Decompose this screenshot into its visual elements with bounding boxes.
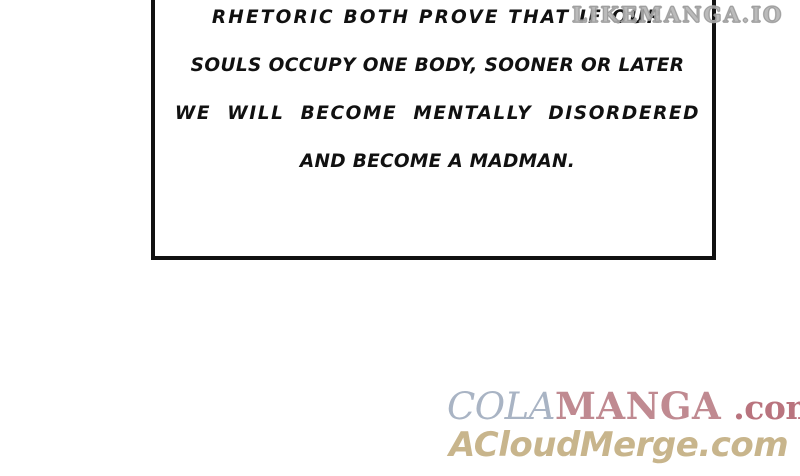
dialogue-line-1: RHETORIC BOTH PROVE THAT IF OUR	[155, 9, 720, 28]
brand-logo-dotcom: .com	[733, 388, 800, 427]
brand-logo-primary: COLAMANGA.com	[447, 388, 797, 425]
brand-logo: COLAMANGA.com ACloudMerge.com	[447, 388, 797, 476]
dialogue-text-block: RHETORIC BOTH PROVE THAT IF OUR SOULS OC…	[155, 0, 720, 200]
dialogue-line-4: AND BECOME A MADMAN.	[155, 153, 720, 172]
brand-logo-cola: COLA	[447, 385, 555, 428]
comic-panel: RHETORIC BOTH PROVE THAT IF OUR SOULS OC…	[151, 0, 716, 260]
dialogue-line-3: WE WILL BECOME MENTALLY DISORDERED	[155, 105, 720, 124]
brand-logo-manga: MANGA	[555, 384, 721, 428]
dialogue-line-2: SOULS OCCUPY ONE BODY, SOONER OR LATER	[155, 57, 720, 76]
brand-logo-secondary: ACloudMerge.com	[449, 428, 799, 462]
